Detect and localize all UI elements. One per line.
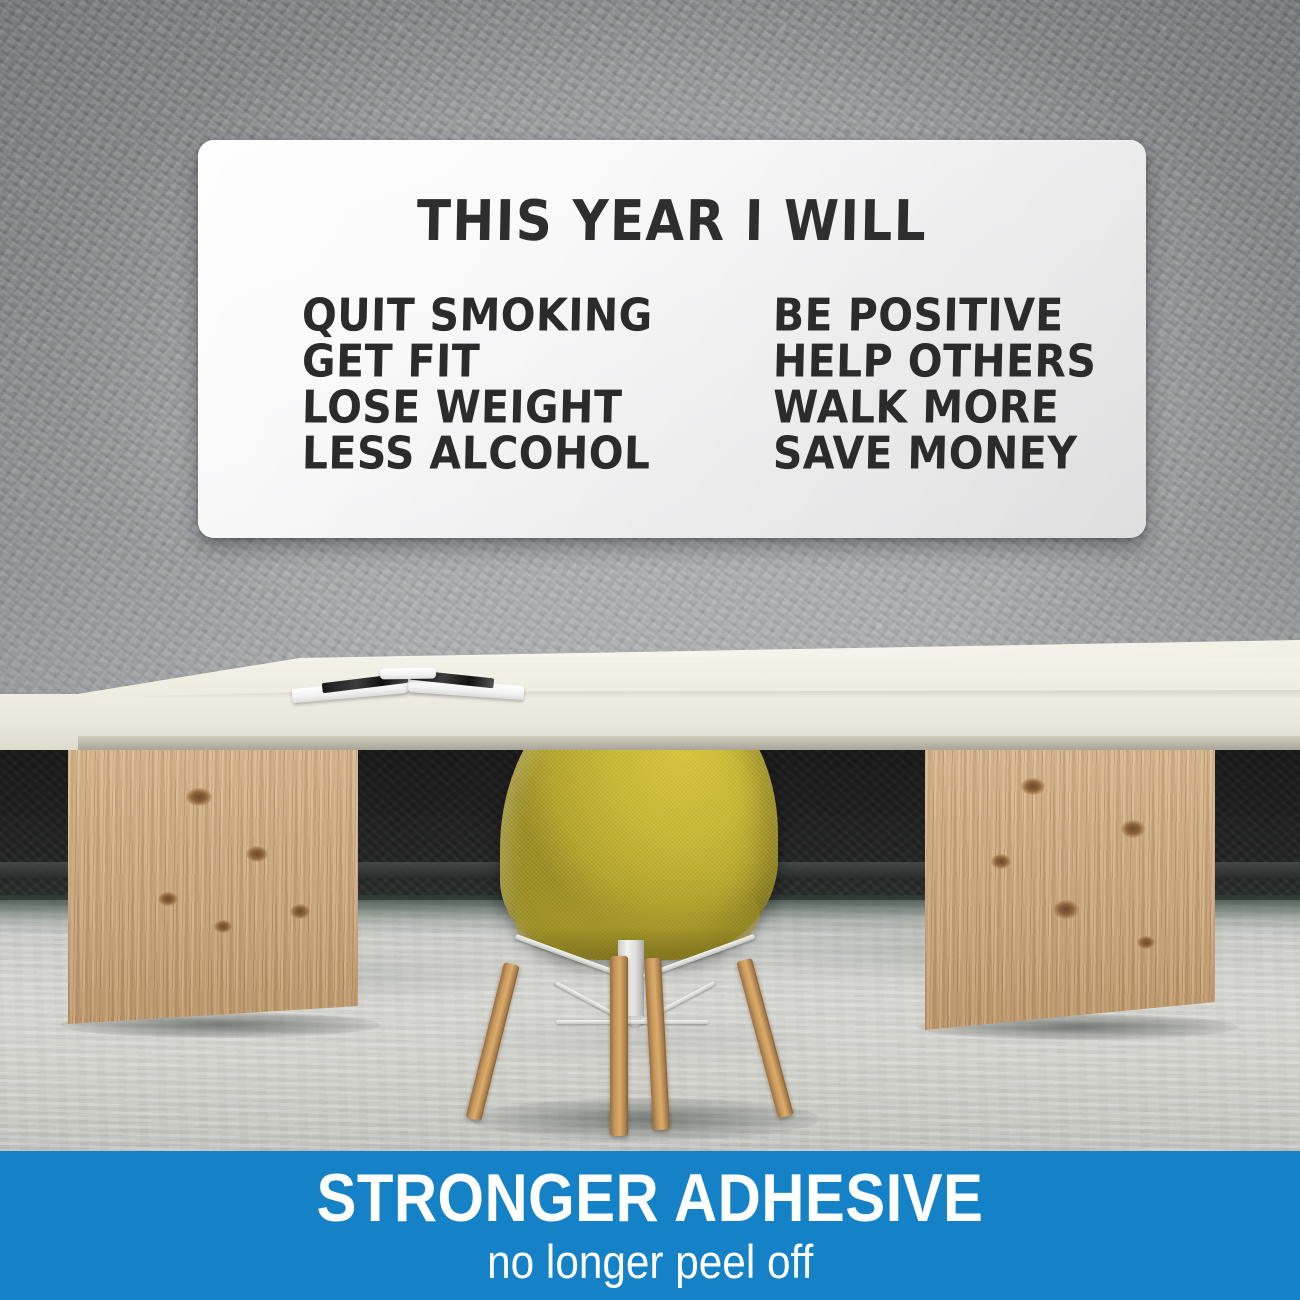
goal-item: LOSE WEIGHT [301,382,653,433]
wood-knot [158,892,178,906]
wood-knot [1121,820,1145,838]
whiteboard-sticker[interactable]: THIS YEAR I WILL QUIT SMOKING GET FIT LO… [198,140,1146,538]
whiteboard-goal-lists: QUIT SMOKING GET FIT LOSE WEIGHT LESS AL… [302,292,1076,476]
desk-underside [0,736,1300,750]
banner-title: STRONGER ADHESIVE [317,1163,984,1233]
magazine-spine [380,668,436,680]
goal-item: BE POSITIVE [772,290,1097,341]
promo-banner: STRONGER ADHESIVE no longer peel off [0,1151,1300,1300]
chair-leg-front-center [610,956,628,1136]
chair-leg-rear-center [644,958,670,1131]
goal-column-left: QUIT SMOKING GET FIT LOSE WEIGHT LESS AL… [302,292,653,476]
wood-knot [214,920,232,933]
wood-knot [290,904,310,919]
wood-knot [991,854,1011,869]
goal-column-right: BE POSITIVE HELP OTHERS WALK MORE SAVE M… [773,292,1096,476]
wood-knot [1053,900,1079,919]
goal-item: WALK MORE [772,382,1097,433]
chair-leg-rear-right [736,958,793,1119]
chair-wire-brace [556,1020,708,1024]
goal-item: GET FIT [301,336,653,387]
wood-knot [246,846,268,862]
product-marketing-image: THIS YEAR I WILL QUIT SMOKING GET FIT LO… [0,0,1300,1300]
open-magazine [292,662,524,704]
desk-leg-right [925,748,1215,1030]
wood-knot [186,788,212,806]
wood-knot [1137,936,1155,949]
banner-subtitle: no longer peel off [487,1235,813,1289]
goal-item: LESS ALCOHOL [301,428,653,479]
wood-grain [925,748,1215,1030]
goal-item: QUIT SMOKING [301,290,653,341]
desk-leg-left [68,744,358,1024]
wood-grain [68,744,358,1024]
goal-item: HELP OTHERS [772,336,1097,387]
wood-knot [1021,778,1045,795]
whiteboard-title: THIS YEAR I WILL [197,189,1146,254]
goal-item: SAVE MONEY [772,428,1097,479]
